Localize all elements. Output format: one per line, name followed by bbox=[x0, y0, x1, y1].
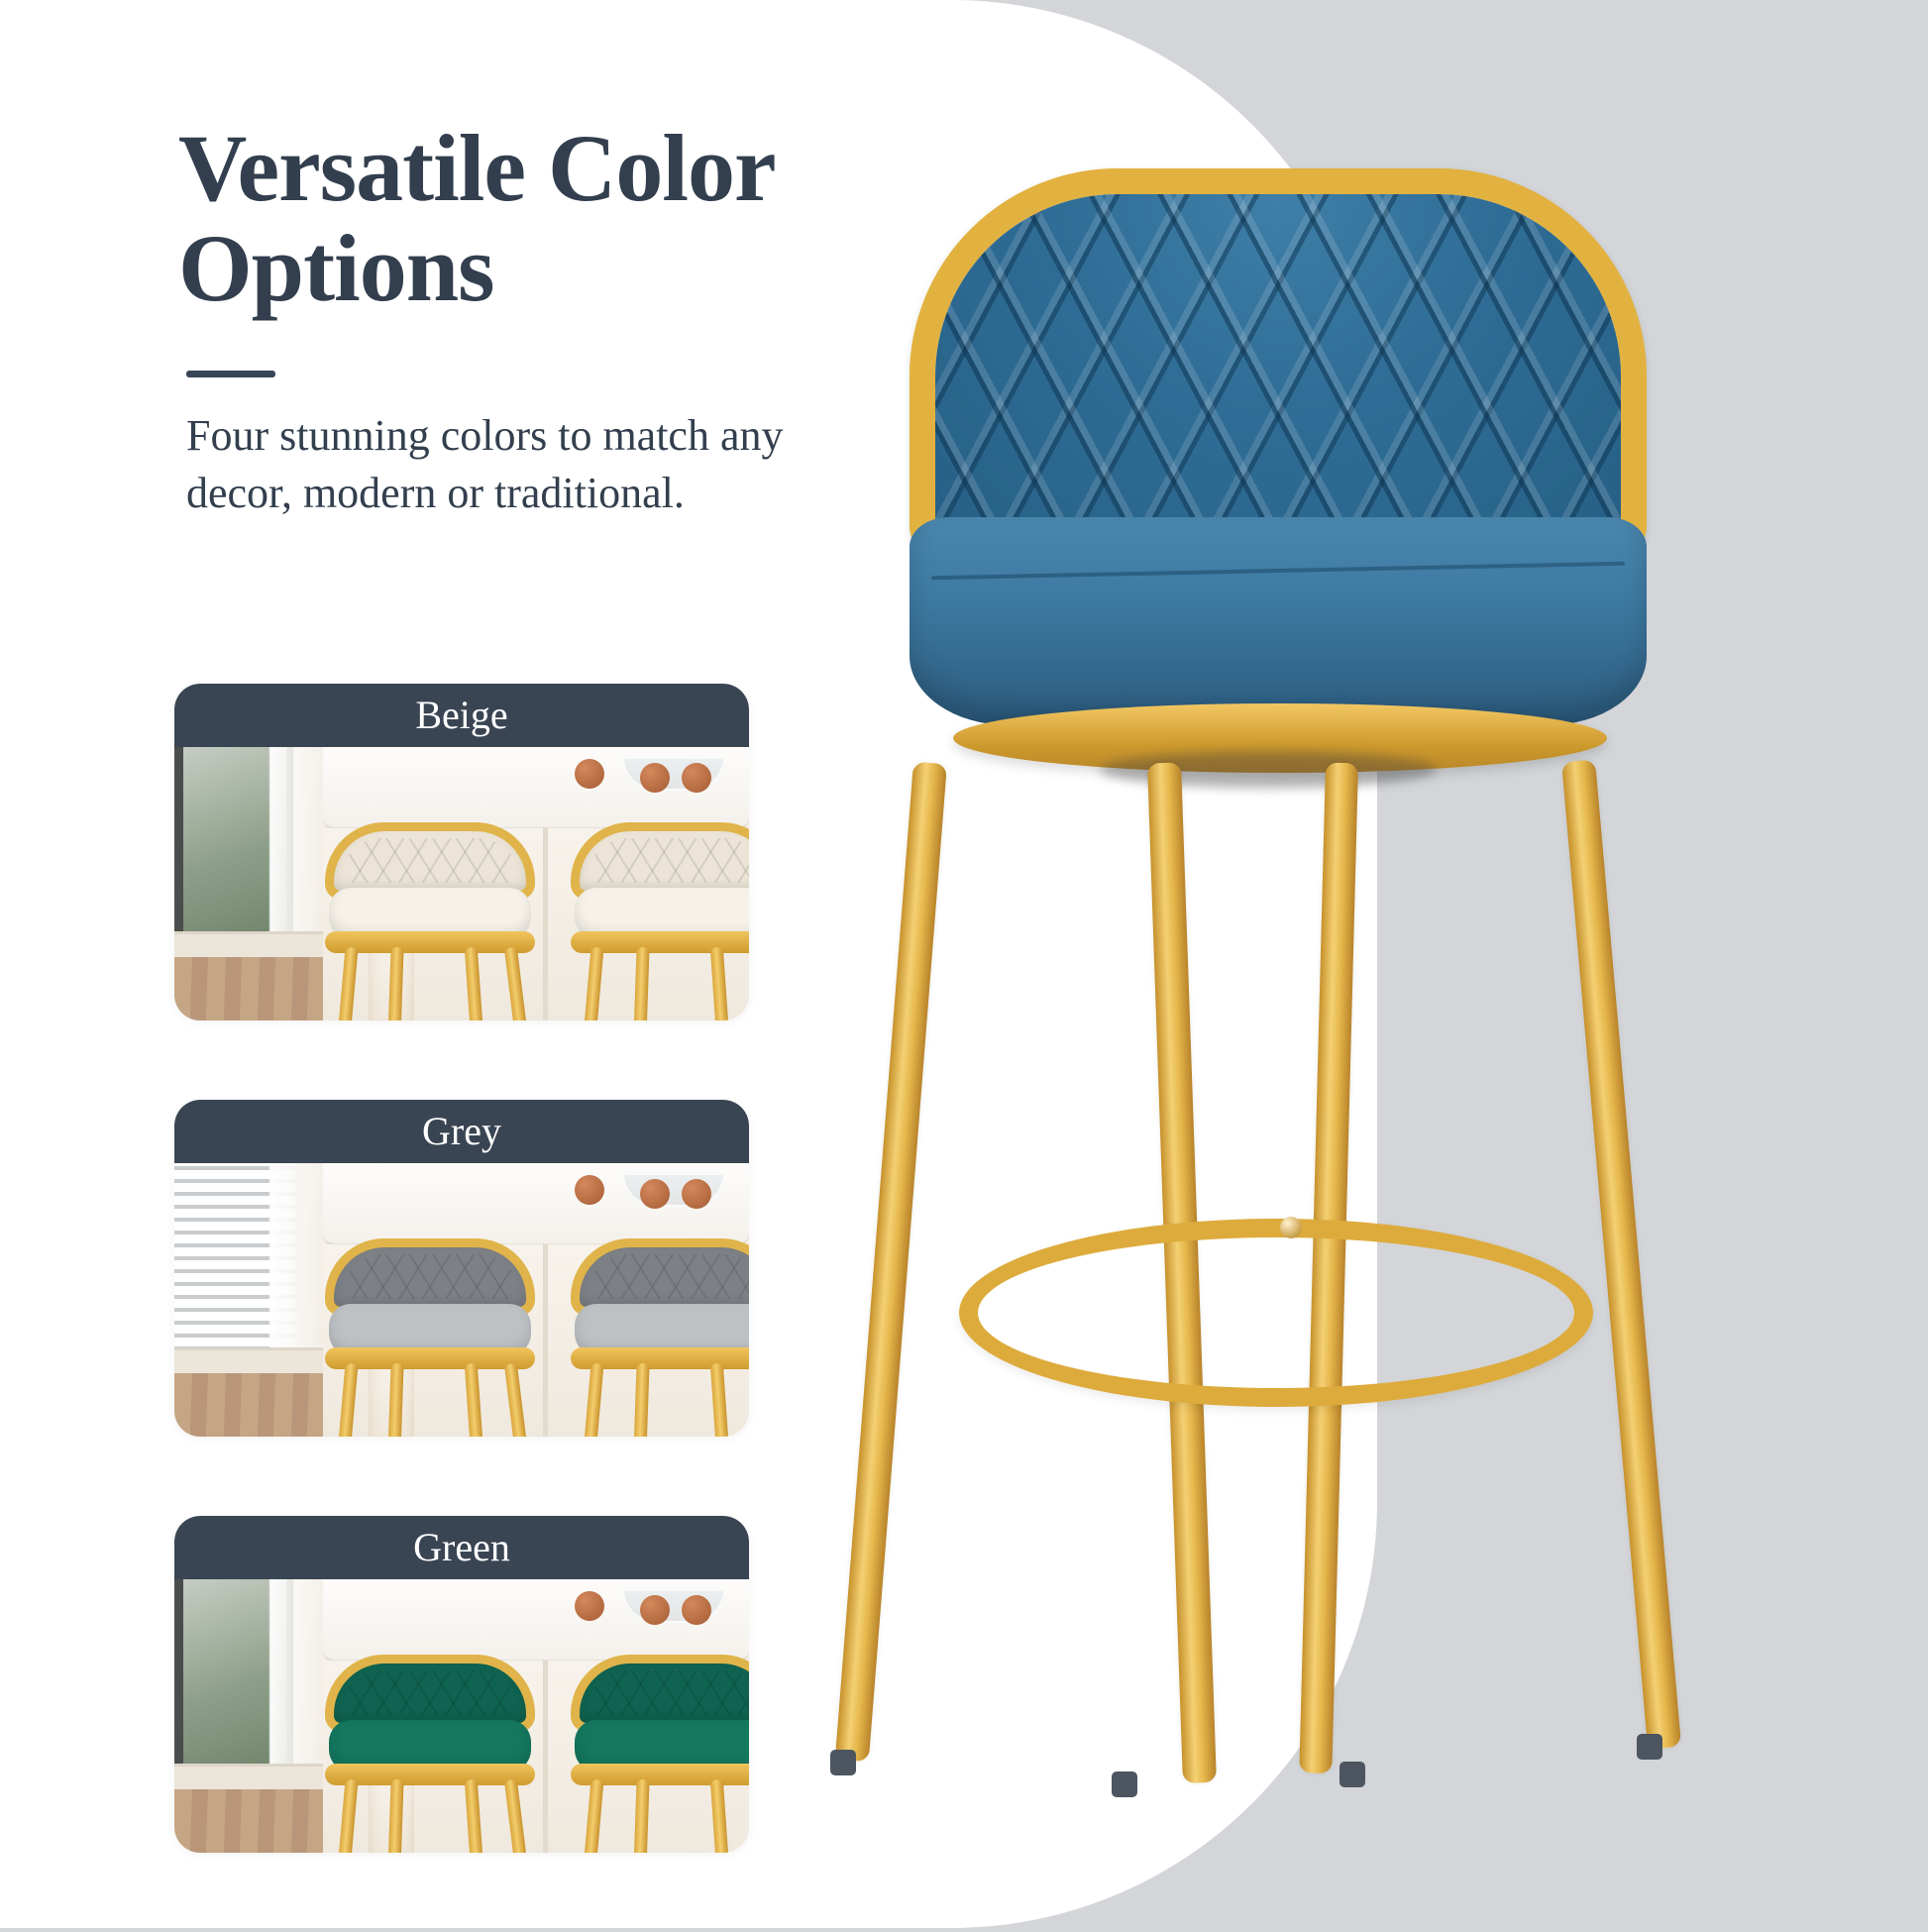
hero-product-image bbox=[892, 168, 1664, 1793]
hero-footrest-screw bbox=[1280, 1217, 1302, 1238]
color-options-list: Beige bbox=[174, 684, 769, 1932]
fruit-icon bbox=[640, 763, 670, 793]
fruit-icon bbox=[640, 1595, 670, 1625]
fruit-icon bbox=[575, 1175, 604, 1205]
color-card-green[interactable]: Green bbox=[174, 1516, 749, 1853]
fruit-icon bbox=[640, 1179, 670, 1209]
fruit-icon bbox=[682, 1595, 711, 1625]
hero-seat-cushion bbox=[910, 517, 1647, 725]
page-title: Versatile Color Options bbox=[178, 119, 872, 319]
counter-seam bbox=[543, 1661, 548, 1853]
fruit-icon bbox=[682, 1179, 711, 1209]
fruit-icon bbox=[682, 763, 711, 793]
color-card-label-beige: Beige bbox=[174, 684, 749, 747]
hero-leg bbox=[1561, 760, 1681, 1750]
color-card-label-green: Green bbox=[174, 1516, 749, 1579]
title-divider bbox=[186, 371, 275, 377]
counter-seam bbox=[543, 828, 548, 1020]
fruit-icon bbox=[575, 759, 604, 789]
counter-seam bbox=[543, 1244, 548, 1437]
hero-backrest bbox=[910, 168, 1647, 565]
hero-foot-cap bbox=[1112, 1771, 1137, 1797]
hero-foot-cap bbox=[830, 1750, 856, 1775]
hero-foot-cap bbox=[1637, 1734, 1662, 1760]
color-card-grey[interactable]: Grey bbox=[174, 1100, 749, 1437]
hero-foot-cap bbox=[1339, 1762, 1365, 1787]
color-card-label-grey: Grey bbox=[174, 1100, 749, 1163]
text-column: Versatile Color Options Four stunning co… bbox=[178, 119, 872, 523]
fruit-icon bbox=[575, 1591, 604, 1621]
hero-woven-upholstery bbox=[927, 186, 1629, 547]
subtitle-text: Four stunning colors to match any decor,… bbox=[186, 407, 860, 523]
color-card-beige[interactable]: Beige bbox=[174, 684, 749, 1020]
hero-footrest-ring bbox=[959, 1219, 1593, 1407]
